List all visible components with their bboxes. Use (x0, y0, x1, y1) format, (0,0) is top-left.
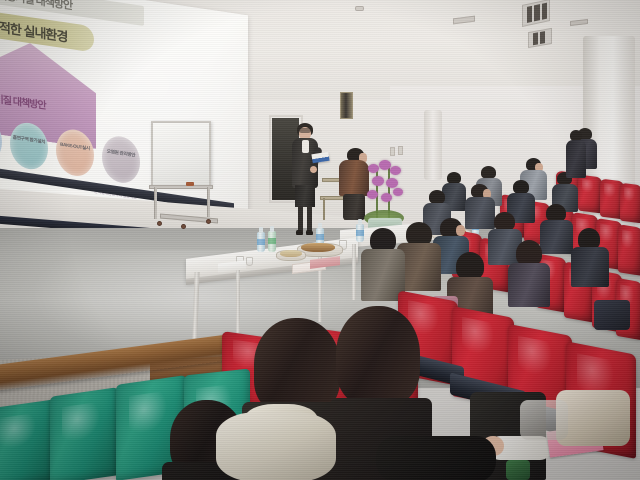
ceiling-vent-icon (453, 16, 475, 25)
orchid-flower (367, 190, 378, 199)
seat-green[interactable] (50, 387, 118, 480)
person-hair (456, 252, 484, 280)
whiteboard-leg-right (207, 187, 210, 217)
seat-red[interactable] (578, 175, 602, 214)
seat-red[interactable] (620, 183, 640, 224)
chair-leg (323, 198, 325, 220)
person-torso (571, 247, 609, 287)
person-torso (540, 220, 573, 254)
person-hair (254, 318, 340, 414)
whiteboard-caster-icon (157, 221, 162, 226)
whiteboard-caster-icon (206, 219, 211, 224)
foreground-shadow (376, 436, 496, 480)
presenter-shirt (302, 140, 309, 153)
wall-speaker-icon (340, 92, 353, 119)
table-leg (352, 244, 356, 300)
whiteboard-marker-icon (186, 182, 194, 186)
orchid-flower (381, 193, 392, 202)
presenter-leg-left (298, 206, 303, 232)
slide-bubble-3-label: BAKE-OUT실시 (56, 141, 94, 153)
water-bottle (268, 231, 276, 252)
presenter-leg-right (307, 206, 312, 232)
food-item (280, 250, 302, 257)
whiteboard-leg-left (154, 187, 157, 219)
auditorium-photo: 발표회 표회 국립대학교 환경공학과 실내공기질 대책방안 쾌적한 실내환경 실… (0, 0, 640, 480)
water-bottle (356, 224, 364, 242)
fleece-blanket (216, 412, 336, 480)
presenter-hand (310, 166, 317, 173)
plastic-wrapper (520, 400, 568, 440)
person-hair (336, 306, 420, 406)
orchid-flower (393, 188, 403, 196)
orchid-flower (372, 176, 384, 186)
food-item (301, 243, 335, 252)
wall-outlet-icon (398, 146, 403, 155)
presenter-shoe-right (306, 230, 313, 235)
orchid-flower (390, 166, 401, 175)
person-hair (429, 190, 445, 204)
wall-outlet-icon (390, 147, 395, 156)
seat-green[interactable] (0, 399, 54, 480)
ceiling-light-icon (522, 0, 550, 27)
water-bottle (257, 232, 265, 252)
column-middle (424, 110, 442, 180)
person-torso (465, 197, 495, 229)
person-torso (508, 263, 550, 307)
orchid-flower (386, 178, 398, 188)
seat-red[interactable] (618, 224, 640, 276)
ceiling-sensor-icon (355, 6, 364, 11)
presenter-face-shadow (299, 128, 311, 133)
presenter-skirt (295, 185, 315, 207)
person-hair (513, 180, 529, 194)
whiteboard-tray (149, 185, 213, 189)
person-face (456, 225, 465, 236)
canned-drink (506, 460, 530, 480)
whiteboard (151, 121, 211, 187)
presenter-shoe-left (296, 230, 303, 235)
orchid-flower (368, 164, 379, 173)
presenter-person (288, 123, 322, 239)
ceiling-light-icon (528, 28, 552, 48)
handbag (594, 300, 630, 330)
paper-cup (246, 257, 253, 266)
slide-bubble-4-label: 오염원 관리방안 (102, 148, 140, 160)
whiteboard-caster-icon (181, 224, 186, 229)
ceiling-vent-icon (570, 19, 588, 26)
person-torso (566, 140, 586, 178)
slide-bubble-2-label: 흡연구역 환기설치 (10, 134, 48, 146)
